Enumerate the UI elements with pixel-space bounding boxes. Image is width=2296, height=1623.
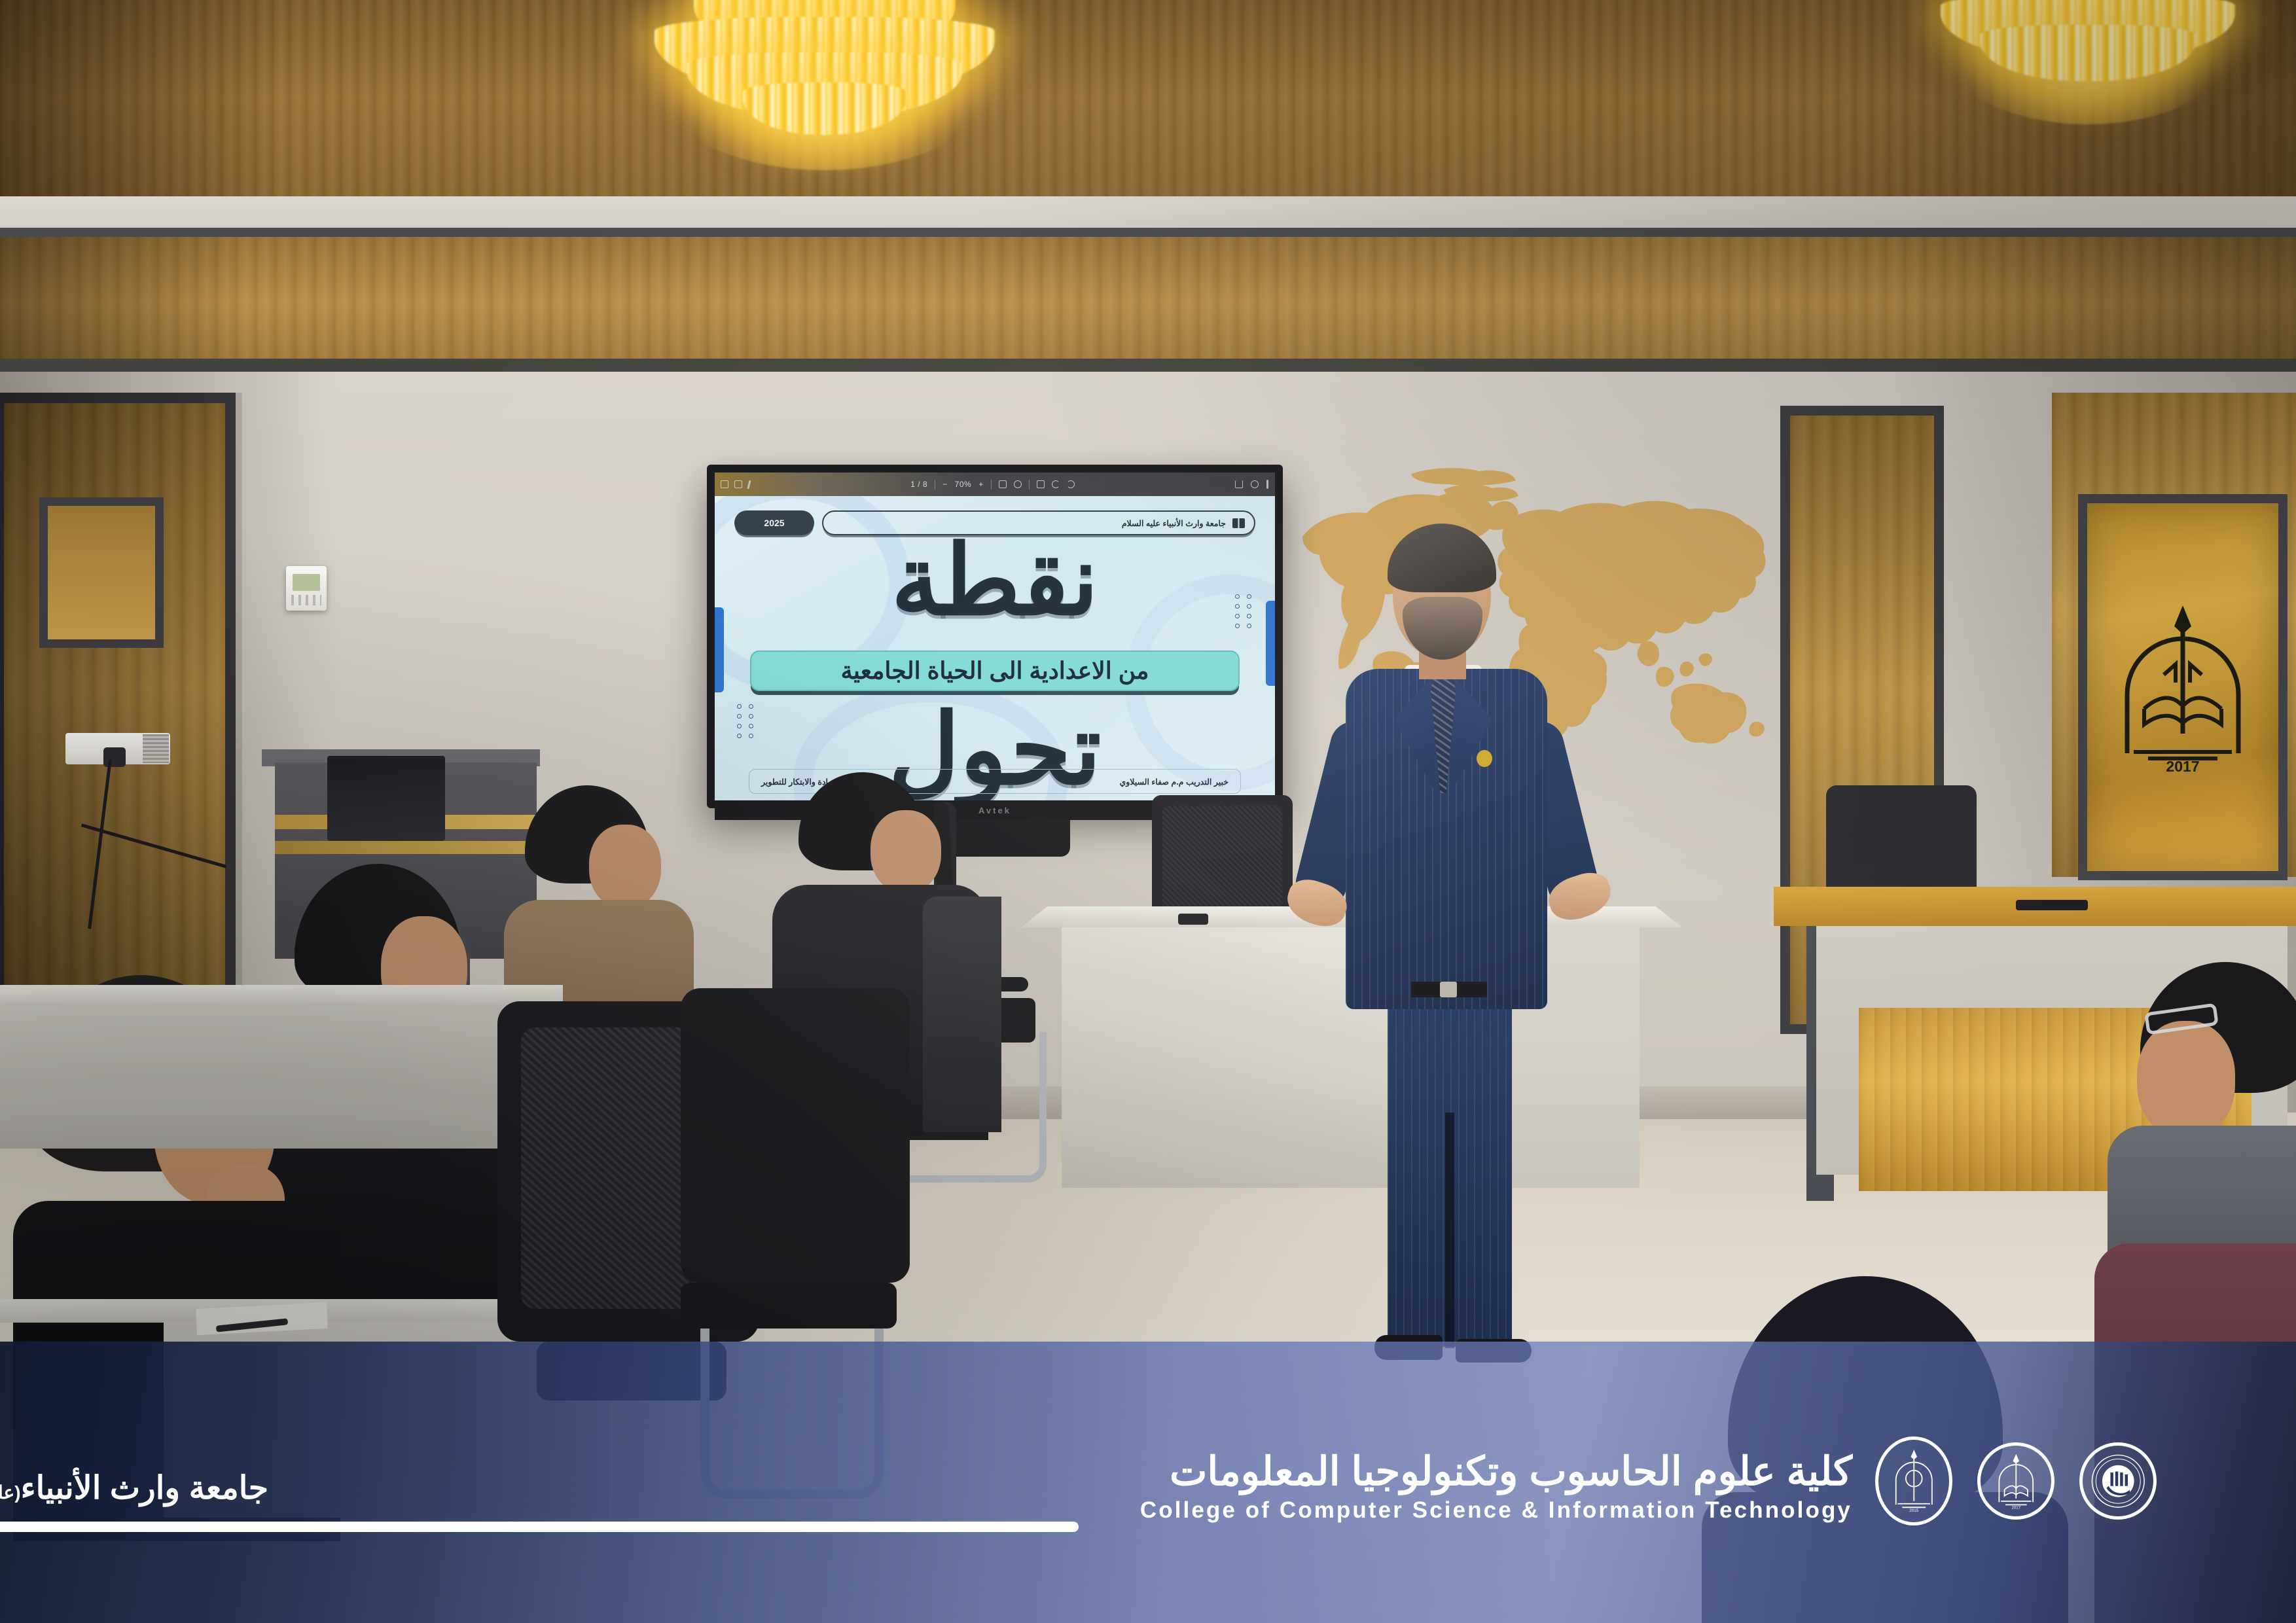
redo-icon[interactable] (1067, 480, 1075, 488)
zoom-out-button[interactable]: − (942, 480, 948, 489)
university-wood-plaque: 2017 (2078, 494, 2287, 880)
college-seal-year: 2015 (1909, 1509, 1918, 1514)
zoom-in-button[interactable]: + (978, 480, 984, 489)
footer-college-ar: كلية علوم الحاسوب وتكنولوجيا المعلومات (1106, 1450, 1852, 1493)
slide-footer-right-label: خبير التدريب م.م صفاء السيلاوي (1119, 777, 1229, 787)
wall-band-shadow-left (0, 237, 249, 368)
desk-pen (2016, 900, 2088, 910)
toolbar-divider (935, 480, 935, 490)
toolbar-divider-3 (1029, 480, 1030, 490)
logo-university-seal: 2017 (1977, 1442, 2054, 1520)
footer-university-name: جامعة وارث الأنبياء (21, 1471, 268, 1506)
footer-college-block: كلية علوم الحاسوب وتكنولوجيا المعلومات C… (1106, 1450, 1852, 1524)
footer-rule (0, 1522, 1079, 1532)
thermostat-screen (293, 574, 320, 591)
wall-power-socket (65, 733, 170, 764)
university-seal-year: 2017 (2011, 1505, 2020, 1510)
presenter-leg-gap (1445, 1113, 1454, 1348)
student-desk-left (0, 985, 563, 1005)
presenter-hair (1388, 524, 1496, 592)
print-icon[interactable] (1251, 480, 1259, 488)
warith-al-anbiyaa-crest-icon: 2017 (2108, 596, 2258, 793)
display-screen[interactable]: 1 / 8 − 70% + (715, 473, 1275, 800)
footer-university-honorific: (عليه السلام) (0, 1482, 21, 1503)
slide-university-label: جامعة وارث الأنبياء عليه السلام (1122, 518, 1226, 528)
open-book-icon (1232, 518, 1245, 528)
slide-canvas: جامعة وارث الأنبياء عليه السلام 2025 نقط… (715, 496, 1275, 800)
sidebar-toggle-icon[interactable] (721, 480, 728, 488)
wall-band-trim (0, 359, 2296, 373)
ceiling-shadow-left (0, 0, 281, 216)
ministry-seal-icon (2089, 1452, 2147, 1510)
page-indicator: 1 / 8 (910, 480, 927, 489)
presenter-remote[interactable] (1178, 914, 1208, 925)
footer-college-en: College of Computer Science & Informatio… (1106, 1497, 1852, 1524)
left-panel-shadow (0, 393, 242, 1047)
chandelier-right (1918, 0, 2258, 111)
slide-subtitle-banner: من الاعدادية الى الحياة الجامعية (750, 651, 1240, 691)
presenter-lapel-pin (1477, 750, 1492, 767)
fit-page-icon[interactable] (999, 480, 1007, 488)
plug-icon (103, 747, 126, 767)
rotate-icon[interactable] (1014, 480, 1022, 488)
presenter (1283, 524, 1623, 1368)
logo-ministry-seal (2079, 1442, 2157, 1520)
thermostat-buttons[interactable] (291, 595, 321, 605)
zoom-level-label: 70% (955, 480, 972, 489)
presentation-display[interactable]: 1 / 8 − 70% + (707, 465, 1283, 808)
logo-college-seal: 2015 (1875, 1436, 1952, 1525)
highlight-icon[interactable] (1037, 480, 1045, 488)
socket-grill (143, 734, 169, 763)
thumbnail-icon[interactable] (734, 480, 742, 488)
slide-dot-grid-right (1235, 594, 1253, 628)
download-icon[interactable] (1235, 480, 1243, 488)
screenshot-root: 2017 (0, 0, 2296, 1623)
footer-university-label: جامعة وارث الأنبياء(عليه السلام) (0, 1469, 268, 1507)
pdf-viewer-toolbar[interactable]: 1 / 8 − 70% + (715, 473, 1275, 496)
chandelier-left (628, 0, 1021, 151)
podium-wood-trim-2 (275, 841, 537, 854)
slide-word-top: نقطة (715, 537, 1275, 626)
plaque-year: 2017 (2166, 758, 2199, 775)
presenter-beard (1403, 597, 1482, 660)
slide-year-badge: 2025 (734, 510, 814, 535)
left-panel-inset-frame (39, 497, 164, 648)
college-seal-icon: 2015 (1885, 1447, 1943, 1514)
wall-thermostat[interactable] (286, 566, 327, 611)
podium-laptop[interactable] (327, 756, 445, 841)
undo-icon[interactable] (1052, 480, 1060, 488)
toolbar-divider-2 (991, 480, 992, 490)
more-icon[interactable] (1266, 480, 1268, 489)
presenter-belt-buckle (1440, 982, 1457, 997)
wall-band-shadow-right (1890, 237, 2296, 368)
student-desk-left-body (0, 1005, 563, 1149)
footer-logo-row: 2015 2017 (1875, 1436, 2157, 1525)
university-seal-icon: 2017 (1987, 1452, 2045, 1510)
